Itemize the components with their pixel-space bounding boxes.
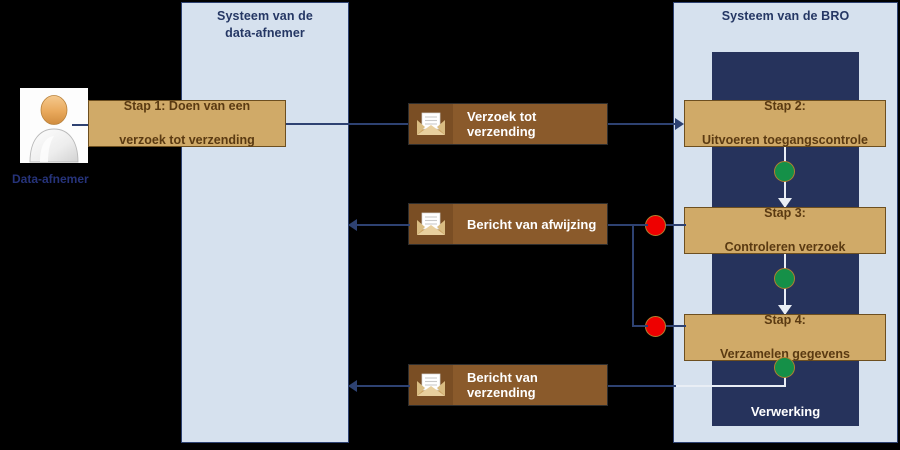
arrowhead-to-lane-verzending xyxy=(348,380,357,392)
connector-afwijzing-to-lane xyxy=(356,224,410,226)
step-stap3-line1: Stap 3: xyxy=(725,205,846,222)
actor-label: Data-afnemer xyxy=(12,172,89,186)
message-afwijzing-label: Bericht van afwijzing xyxy=(453,217,607,232)
connector-stap4-to-verzending-horizontal xyxy=(674,385,786,387)
processing-block-label: Verwerking xyxy=(712,404,859,419)
message-box-verzending[interactable]: Bericht van verzending xyxy=(408,364,608,406)
step-stap2-text: Stap 2:Uitvoeren toegangscontrole xyxy=(702,98,868,149)
state-dot-green-2 xyxy=(774,268,795,289)
envelope-icon xyxy=(409,365,453,405)
connector-verzending-to-lane xyxy=(356,385,410,387)
arrowhead-to-lane-afwijzing xyxy=(348,219,357,231)
step-box-stap2[interactable]: Stap 2:Uitvoeren toegangscontrole xyxy=(684,100,886,147)
step-stap1-line2: verzoek tot verzending xyxy=(119,132,254,149)
envelope-icon xyxy=(409,204,453,244)
connector-to-message-verzending xyxy=(608,385,676,387)
step-box-stap3[interactable]: Stap 3:Controleren verzoek xyxy=(684,207,886,254)
step-stap1-line1: Stap 1: Doen van een xyxy=(119,98,254,115)
lane-bro-title: Systeem van de BRO xyxy=(673,8,898,25)
connector-reject-dot-stap3-to-vertical xyxy=(632,224,648,226)
step-stap3-text: Stap 3:Controleren verzoek xyxy=(725,205,846,256)
message-verzoek-label: Verzoek tot verzending xyxy=(453,109,607,139)
decision-dot-red-stap3[interactable] xyxy=(645,215,666,236)
lane-data-afnemer-title-line1: Systeem van de xyxy=(181,8,349,25)
state-dot-green-3 xyxy=(774,357,795,378)
message-box-verzoek[interactable]: Verzoek tot verzending xyxy=(408,103,608,145)
arrowhead-to-stap2 xyxy=(675,118,684,130)
decision-dot-red-stap4[interactable] xyxy=(645,316,666,337)
connector-reject-to-message xyxy=(608,224,634,226)
connector-reject-vertical xyxy=(632,224,634,326)
connector-reject-dot-stap4-to-vertical xyxy=(632,325,648,327)
connector-verzoek-to-stap2 xyxy=(608,123,676,125)
message-box-afwijzing[interactable]: Bericht van afwijzing xyxy=(408,203,608,245)
diagram-canvas: Systeem van de data-afnemer Systeem van … xyxy=(0,0,900,450)
message-verzending-label: Bericht van verzending xyxy=(453,370,607,400)
step-box-stap1[interactable]: Stap 1: Doen van eenverzoek tot verzendi… xyxy=(88,100,286,147)
lane-data-afnemer-title-line2: data-afnemer xyxy=(181,25,349,42)
step-stap1-text: Stap 1: Doen van eenverzoek tot verzendi… xyxy=(119,98,254,149)
connector-stap1-to-verzoek xyxy=(286,123,408,125)
step-stap4-line1: Stap 4: xyxy=(720,312,850,329)
envelope-icon xyxy=(409,104,453,144)
step-stap2-line1: Stap 2: xyxy=(702,98,868,115)
step-box-stap4[interactable]: Stap 4:Verzamelen gegevens xyxy=(684,314,886,361)
step-stap4-text: Stap 4:Verzamelen gegevens xyxy=(720,312,850,363)
lane-data-afnemer xyxy=(181,2,349,443)
state-dot-green-1 xyxy=(774,161,795,182)
